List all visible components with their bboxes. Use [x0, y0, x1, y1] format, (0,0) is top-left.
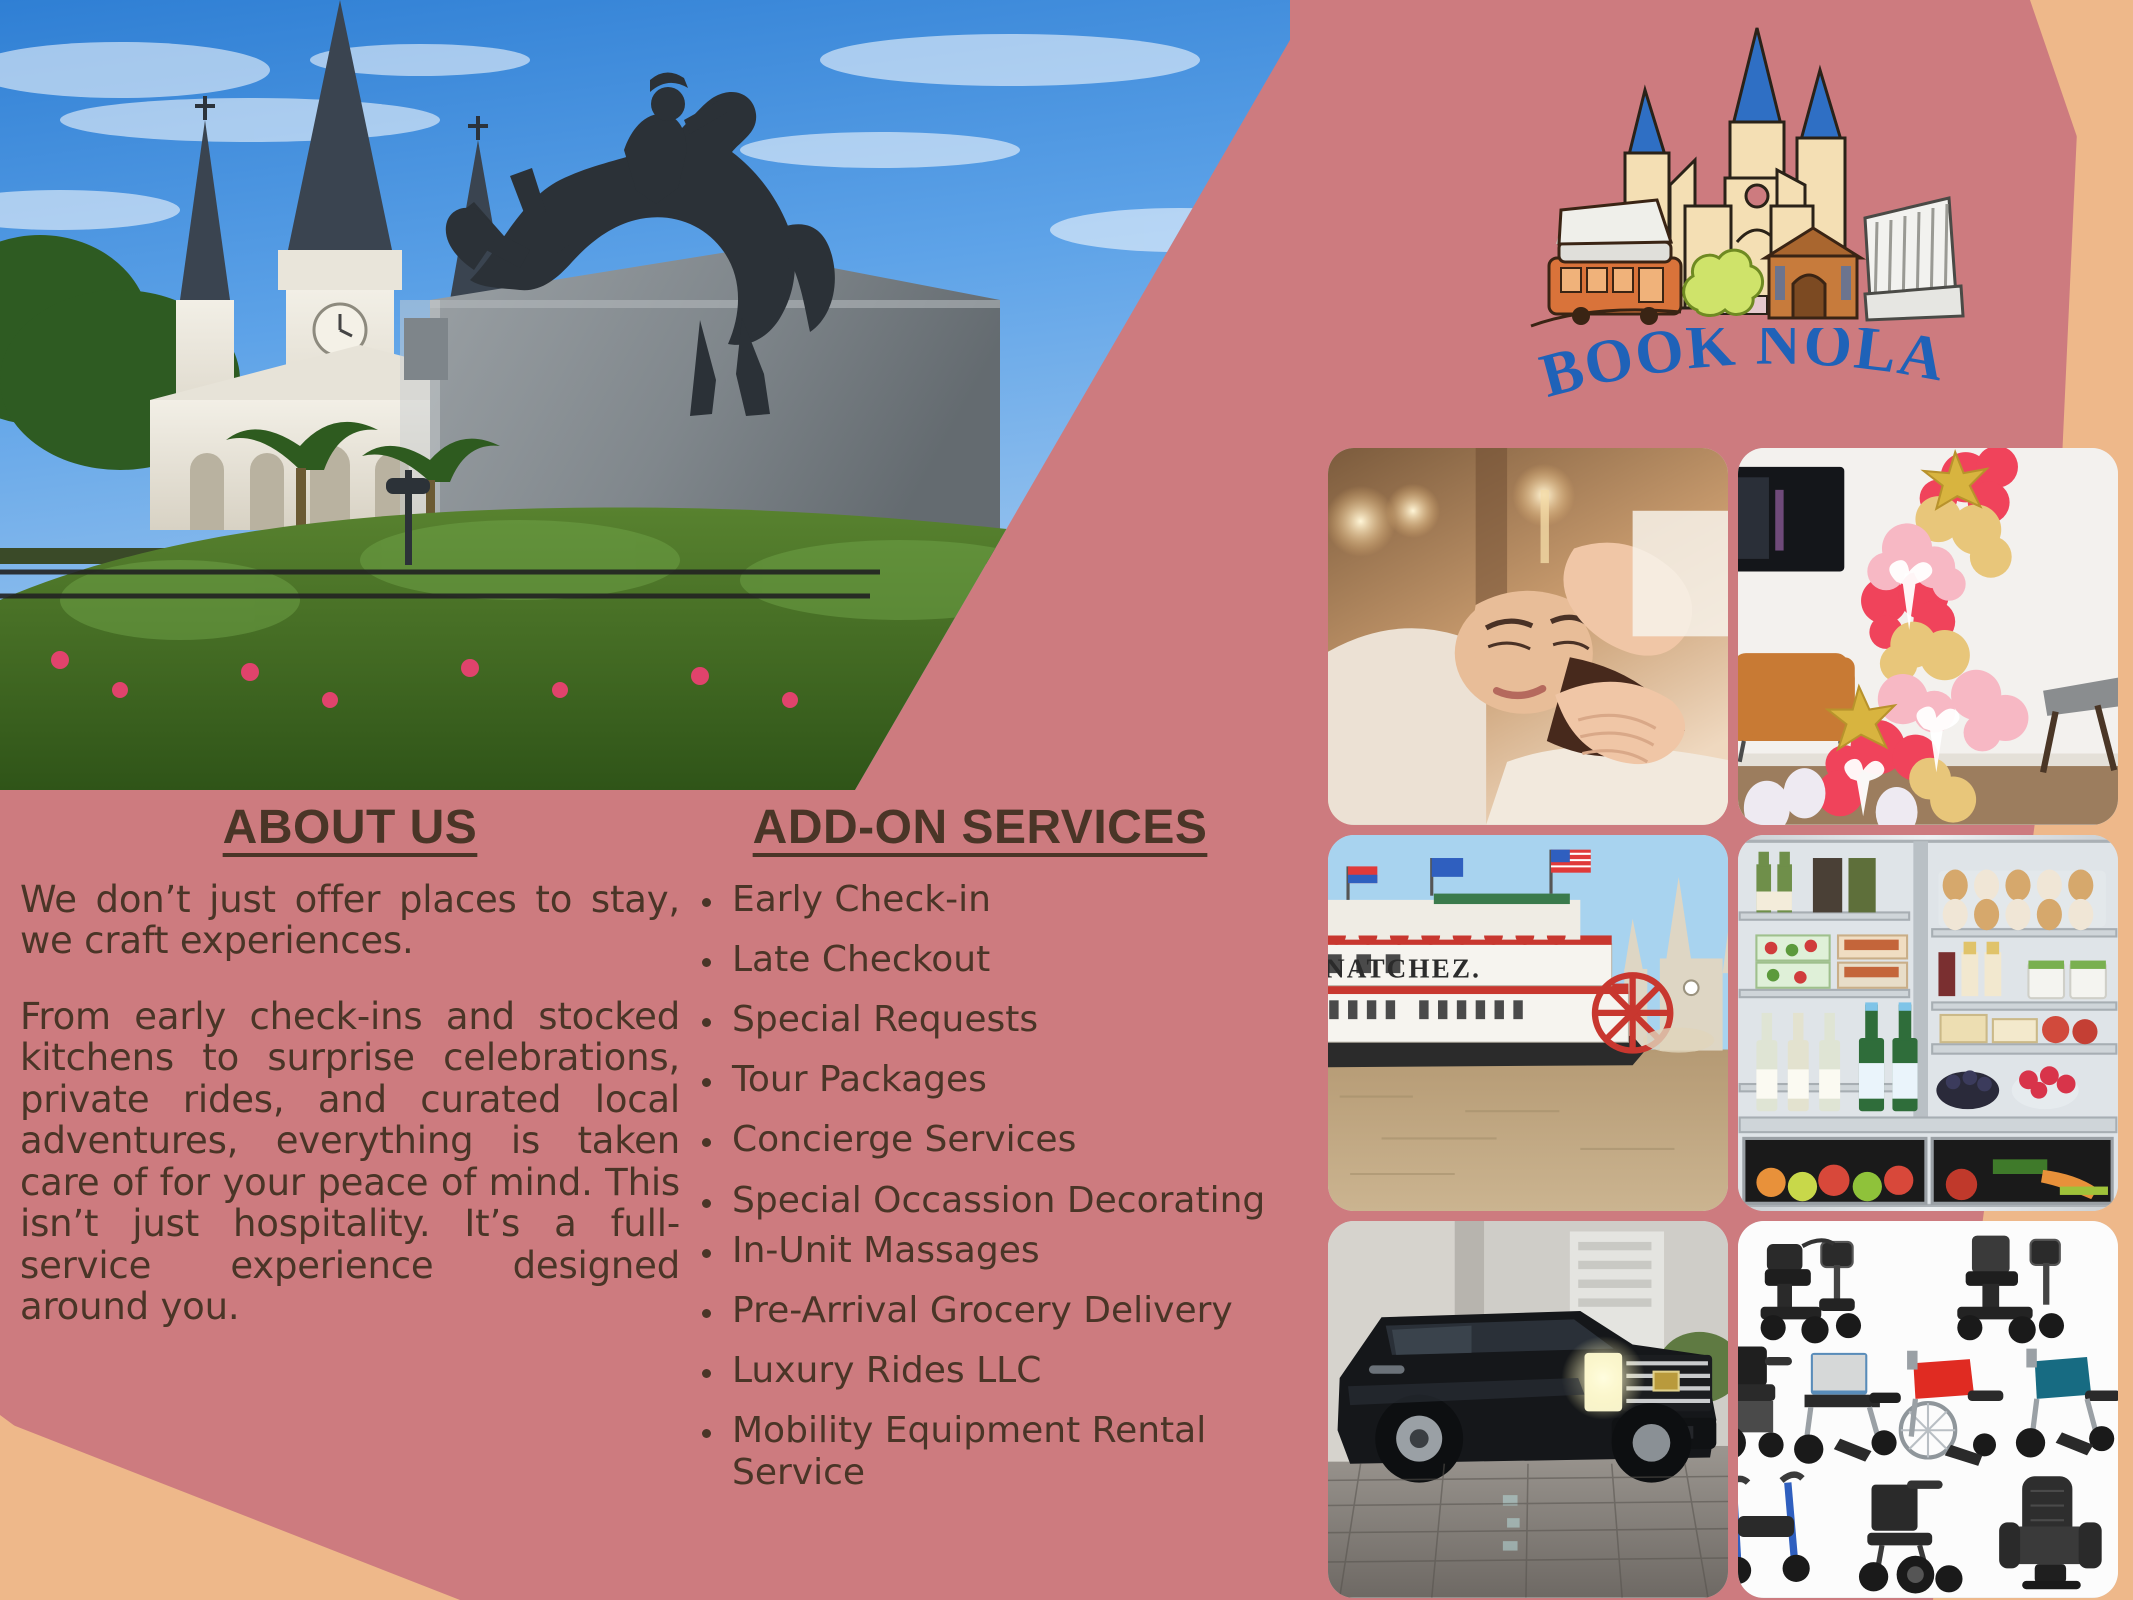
stocked-refrigerator-photo	[1738, 835, 2118, 1212]
list-item: In-Unit Massages	[702, 1230, 1300, 1272]
svg-text:BOOK NOLA: BOOK NOLA	[1533, 328, 1951, 411]
list-item: Tour Packages	[702, 1059, 1300, 1101]
list-item: Pre-Arrival Grocery Delivery	[702, 1290, 1300, 1332]
wordmark-text: BOOK NOLA	[1533, 328, 1951, 411]
about-column: ABOUT US We don’t just offer places to s…	[20, 800, 680, 1327]
about-paragraph-2: From early check-ins and stocked kitchen…	[20, 996, 680, 1328]
brochure-page: BOOK NOLA	[0, 0, 2133, 1600]
st-louis-cathedral-icon	[1525, 10, 1985, 340]
boat-name-text: NATCHEZ.	[1328, 953, 1481, 983]
services-list: Early Check-in Late Checkout Special Req…	[660, 879, 1300, 1494]
list-item: Concierge Services	[702, 1119, 1300, 1161]
balloon-decor-photo	[1738, 448, 2118, 825]
steamboat-natchez-photo: NATCHEZ.	[1328, 835, 1728, 1212]
brand-wordmark: BOOK NOLA	[1525, 328, 1985, 418]
about-paragraph-1: We don’t just offer places to stay, we c…	[20, 879, 680, 962]
list-item: Late Checkout	[702, 939, 1300, 981]
list-item: Special Requests	[702, 999, 1300, 1041]
brand-logo: BOOK NOLA	[1525, 10, 1985, 420]
list-item: Luxury Rides LLC	[702, 1350, 1300, 1392]
services-heading: ADD-ON SERVICES	[660, 800, 1300, 855]
services-column: ADD-ON SERVICES Early Check-in Late Chec…	[660, 800, 1300, 1512]
list-item: Special Occassion Decorating	[702, 1180, 1300, 1222]
list-item: Mobility Equipment Rental Service	[702, 1410, 1300, 1494]
photo-gallery: NATCHEZ.	[1328, 448, 2118, 1598]
mobility-equipment-photo	[1738, 1221, 2118, 1598]
about-heading: ABOUT US	[20, 800, 680, 855]
spa-massage-photo	[1328, 448, 1728, 825]
list-item: Early Check-in	[702, 879, 1300, 921]
luxury-suv-photo	[1328, 1221, 1728, 1598]
